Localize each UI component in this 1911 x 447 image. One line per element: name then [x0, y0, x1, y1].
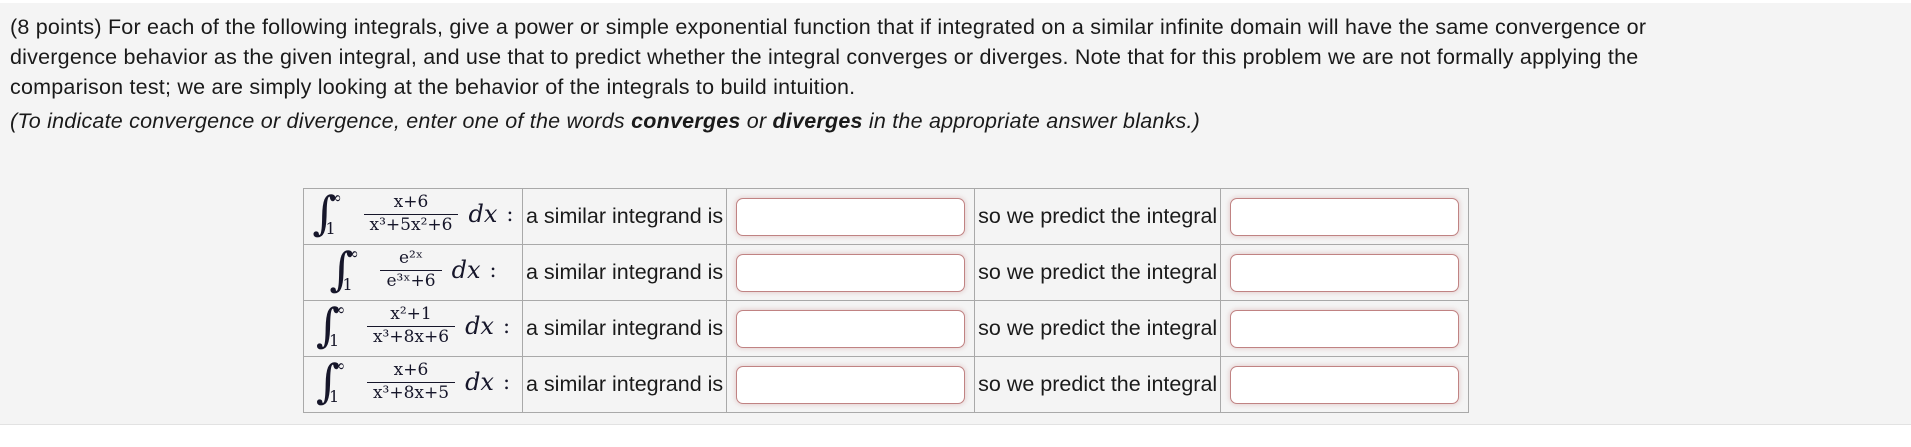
integral-sign-icon: ∫ ∞ 1: [316, 301, 360, 351]
differential: dx: [465, 312, 494, 340]
note-word-diverges: diverges: [773, 109, 863, 133]
integrand-answer-cell-3: [727, 301, 975, 357]
denominator: e³ˣ+6: [380, 270, 441, 291]
fraction-4: x+6 x³+8x+5: [367, 361, 455, 402]
colon-separator: :: [489, 258, 496, 282]
integral-cell-2: ∫ ∞ 1 e²ˣ e³ˣ+6 dx :: [304, 245, 523, 301]
colon-separator: :: [506, 202, 513, 226]
denominator: x³+8x+6: [367, 326, 455, 347]
integral-cell-4: ∫ ∞ 1 x+6 x³+8x+5 dx :: [304, 357, 523, 413]
statement-line-3: comparison test; we are simply looking a…: [10, 72, 1898, 102]
integrand-answer-input-1[interactable]: [736, 198, 965, 236]
numerator: x²+1: [384, 305, 437, 325]
fraction-3: x²+1 x³+8x+6: [367, 305, 455, 346]
problem-statement: (8 points) For each of the following int…: [10, 12, 1898, 136]
problem-page: (8 points) For each of the following int…: [0, 3, 1911, 425]
integrals-answer-table: ∫ ∞ 1 x+6 x³+5x²+6 dx : a similar integr…: [303, 188, 1469, 413]
differential: dx: [452, 256, 481, 284]
statement-line-2: divergence behavior as the given integra…: [10, 42, 1898, 72]
integral-sign-icon: ∫ ∞ 1: [329, 245, 373, 295]
integrand-answer-input-3[interactable]: [736, 310, 965, 348]
note-suffix: in the appropriate answer blanks.): [863, 109, 1200, 133]
integrand-answer-input-2[interactable]: [736, 254, 965, 292]
integral-lower-limit: 1: [329, 389, 339, 405]
integrand-answer-cell-1: [727, 189, 975, 245]
predict-integral-label-4: so we predict the integral: [975, 357, 1221, 413]
integral-upper-limit: ∞: [345, 246, 358, 262]
denominator: x³+5x²+6: [364, 214, 459, 235]
table-row: ∫ ∞ 1 e²ˣ e³ˣ+6 dx : a similar integrand…: [304, 245, 1469, 301]
similar-integrand-label-4: a similar integrand is: [523, 357, 727, 413]
fraction-2: e²ˣ e³ˣ+6: [380, 249, 441, 290]
similar-integrand-label-1: a similar integrand is: [523, 189, 727, 245]
numerator: e²ˣ: [393, 249, 429, 269]
note-middle: or: [741, 109, 773, 133]
similar-integrand-label-3: a similar integrand is: [523, 301, 727, 357]
predict-integral-label-1: so we predict the integral: [975, 189, 1221, 245]
note-prefix: (To indicate convergence or divergence, …: [10, 109, 631, 133]
statement-line-1: (8 points) For each of the following int…: [10, 12, 1898, 42]
integrand-answer-cell-2: [727, 245, 975, 301]
prediction-answer-input-1[interactable]: [1230, 198, 1459, 236]
prediction-answer-input-3[interactable]: [1230, 310, 1459, 348]
integral-expression-2: ∫ ∞ 1 e²ˣ e³ˣ+6 dx :: [329, 245, 496, 295]
integral-expression-3: ∫ ∞ 1 x²+1 x³+8x+6 dx :: [316, 301, 510, 351]
integral-lower-limit: 1: [326, 221, 336, 237]
colon-separator: :: [503, 370, 510, 394]
table-row: ∫ ∞ 1 x²+1 x³+8x+6 dx : a similar integr…: [304, 301, 1469, 357]
statement-note: (To indicate convergence or divergence, …: [10, 106, 1898, 136]
prediction-answer-cell-4: [1221, 357, 1469, 413]
integral-sign-icon: ∫ ∞ 1: [316, 357, 360, 407]
numerator: x+6: [388, 361, 435, 381]
prediction-answer-cell-3: [1221, 301, 1469, 357]
prediction-answer-cell-1: [1221, 189, 1469, 245]
integral-cell-1: ∫ ∞ 1 x+6 x³+5x²+6 dx :: [304, 189, 523, 245]
numerator: x+6: [388, 193, 435, 213]
prediction-answer-input-2[interactable]: [1230, 254, 1459, 292]
predict-integral-label-3: so we predict the integral: [975, 301, 1221, 357]
predict-integral-label-2: so we predict the integral: [975, 245, 1221, 301]
integral-lower-limit: 1: [342, 277, 352, 293]
integrand-answer-input-4[interactable]: [736, 366, 965, 404]
denominator: x³+8x+5: [367, 382, 455, 403]
colon-separator: :: [503, 314, 510, 338]
differential: dx: [465, 368, 494, 396]
integrand-answer-cell-4: [727, 357, 975, 413]
differential: dx: [468, 200, 497, 228]
table-row: ∫ ∞ 1 x+6 x³+8x+5 dx : a similar integra…: [304, 357, 1469, 413]
integral-cell-3: ∫ ∞ 1 x²+1 x³+8x+6 dx :: [304, 301, 523, 357]
integral-upper-limit: ∞: [332, 358, 345, 374]
table-body: ∫ ∞ 1 x+6 x³+5x²+6 dx : a similar integr…: [304, 189, 1469, 413]
prediction-answer-input-4[interactable]: [1230, 366, 1459, 404]
integral-lower-limit: 1: [329, 333, 339, 349]
integral-expression-4: ∫ ∞ 1 x+6 x³+8x+5 dx :: [316, 357, 510, 407]
integral-sign-icon: ∫ ∞ 1: [313, 189, 357, 239]
similar-integrand-label-2: a similar integrand is: [523, 245, 727, 301]
fraction-1: x+6 x³+5x²+6: [364, 193, 459, 234]
integral-expression-1: ∫ ∞ 1 x+6 x³+5x²+6 dx :: [313, 189, 514, 239]
note-word-converges: converges: [631, 109, 741, 133]
integral-upper-limit: ∞: [332, 302, 345, 318]
integral-upper-limit: ∞: [329, 190, 342, 206]
prediction-answer-cell-2: [1221, 245, 1469, 301]
table-row: ∫ ∞ 1 x+6 x³+5x²+6 dx : a similar integr…: [304, 189, 1469, 245]
